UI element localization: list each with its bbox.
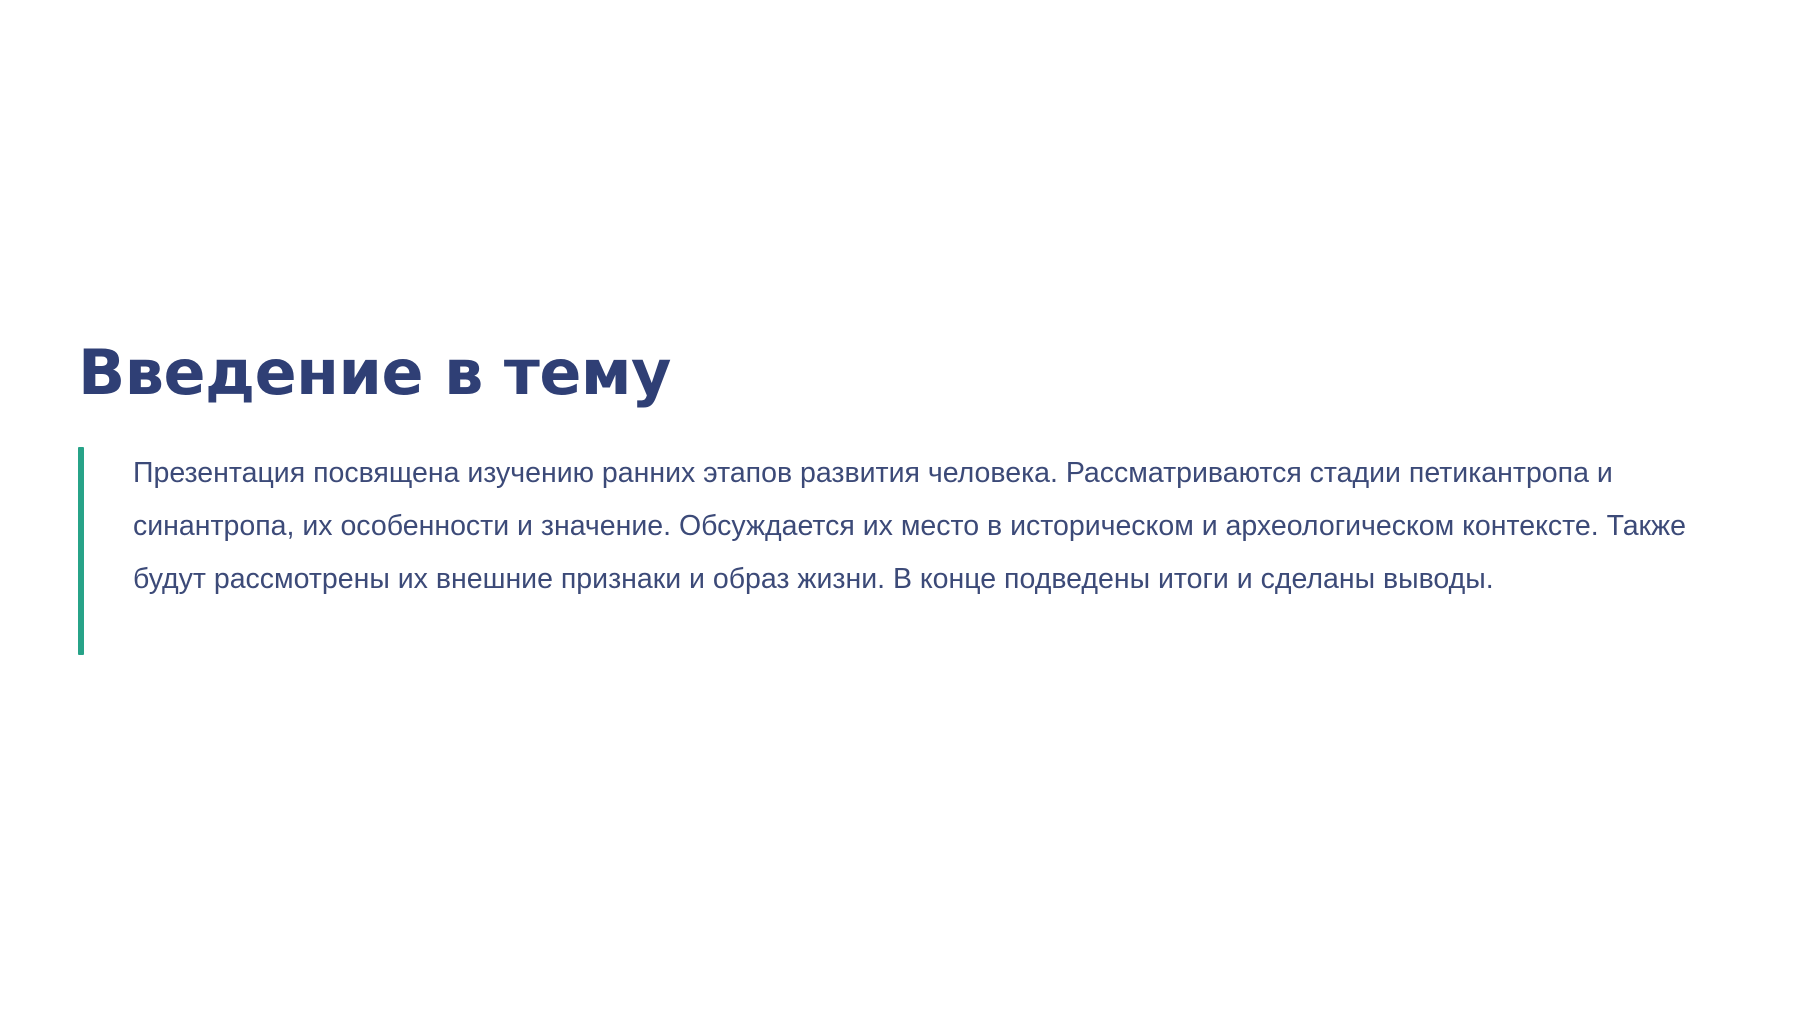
accent-bar <box>78 447 84 655</box>
body-block: Презентация посвящена изучению ранних эт… <box>78 447 1738 655</box>
slide-content: Введение в тему Презентация посвящена из… <box>78 340 1738 655</box>
body-paragraph: Презентация посвящена изучению ранних эт… <box>133 447 1733 606</box>
page-title: Введение в тему <box>78 340 1738 405</box>
presentation-slide: Введение в тему Презентация посвящена из… <box>0 0 1800 1013</box>
